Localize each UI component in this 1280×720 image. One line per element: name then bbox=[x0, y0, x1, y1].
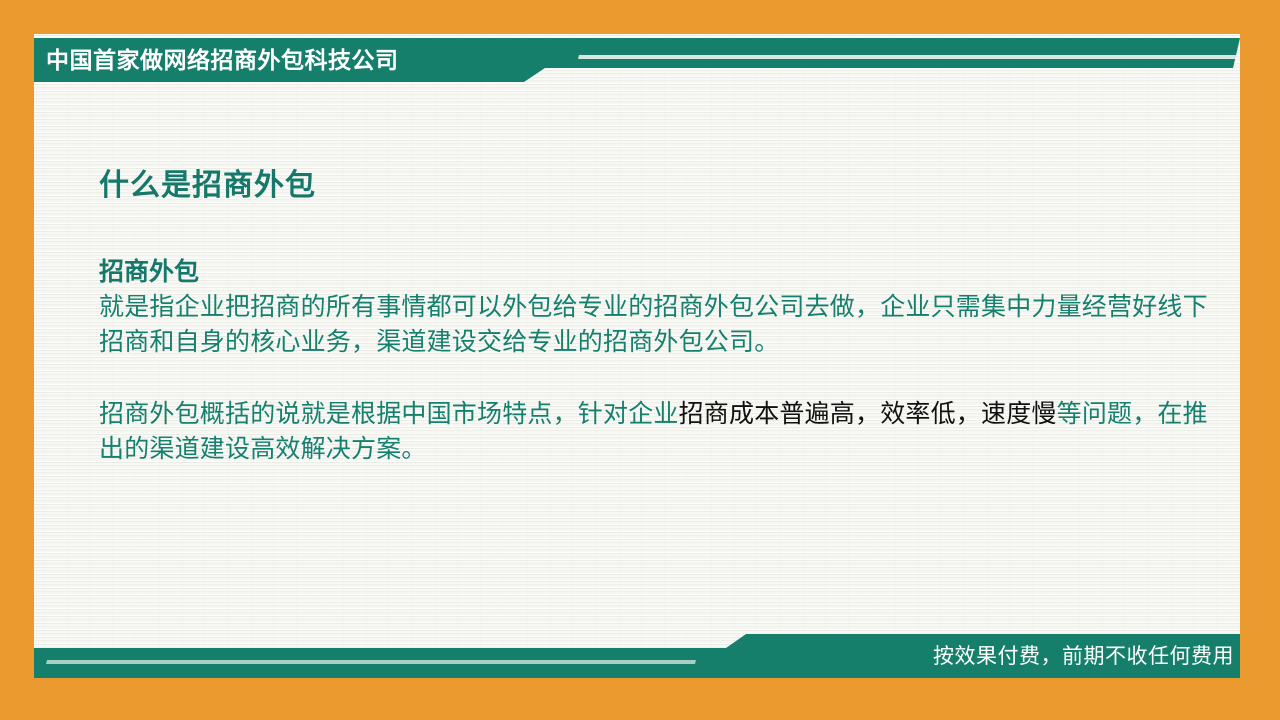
summary-text-lead: 招商外包概括的说就是根据中国市场特点，针对企业 bbox=[99, 400, 679, 428]
header-title: 中国首家做网络招商外包科技公司 bbox=[46, 44, 399, 77]
definition-paragraph: 就是指企业把招商的所有事情都可以外包给专业的招商外包公司去做，企业只需集中力量经… bbox=[99, 290, 1229, 361]
slide-body: 什么是招商外包 招商外包 就是指企业把招商的所有事情都可以外包给专业的招商外包公… bbox=[99, 168, 1229, 468]
slide-canvas: 中国首家做网络招商外包科技公司 什么是招商外包 招商外包 就是指企业把招商的所有… bbox=[0, 0, 1280, 720]
definition-label: 招商外包 bbox=[99, 256, 1229, 290]
page-title: 什么是招商外包 bbox=[99, 168, 1229, 204]
paragraph-spacer bbox=[99, 361, 1229, 397]
summary-paragraph: 招商外包概括的说就是根据中国市场特点，针对企业招商成本普遍高，效率低，速度慢等问… bbox=[99, 397, 1229, 468]
summary-text-emphasis: 招商成本普遍高，效率低，速度慢 bbox=[679, 400, 1057, 428]
footer-tagline: 按效果付费，前期不收任何费用 bbox=[933, 642, 1234, 672]
